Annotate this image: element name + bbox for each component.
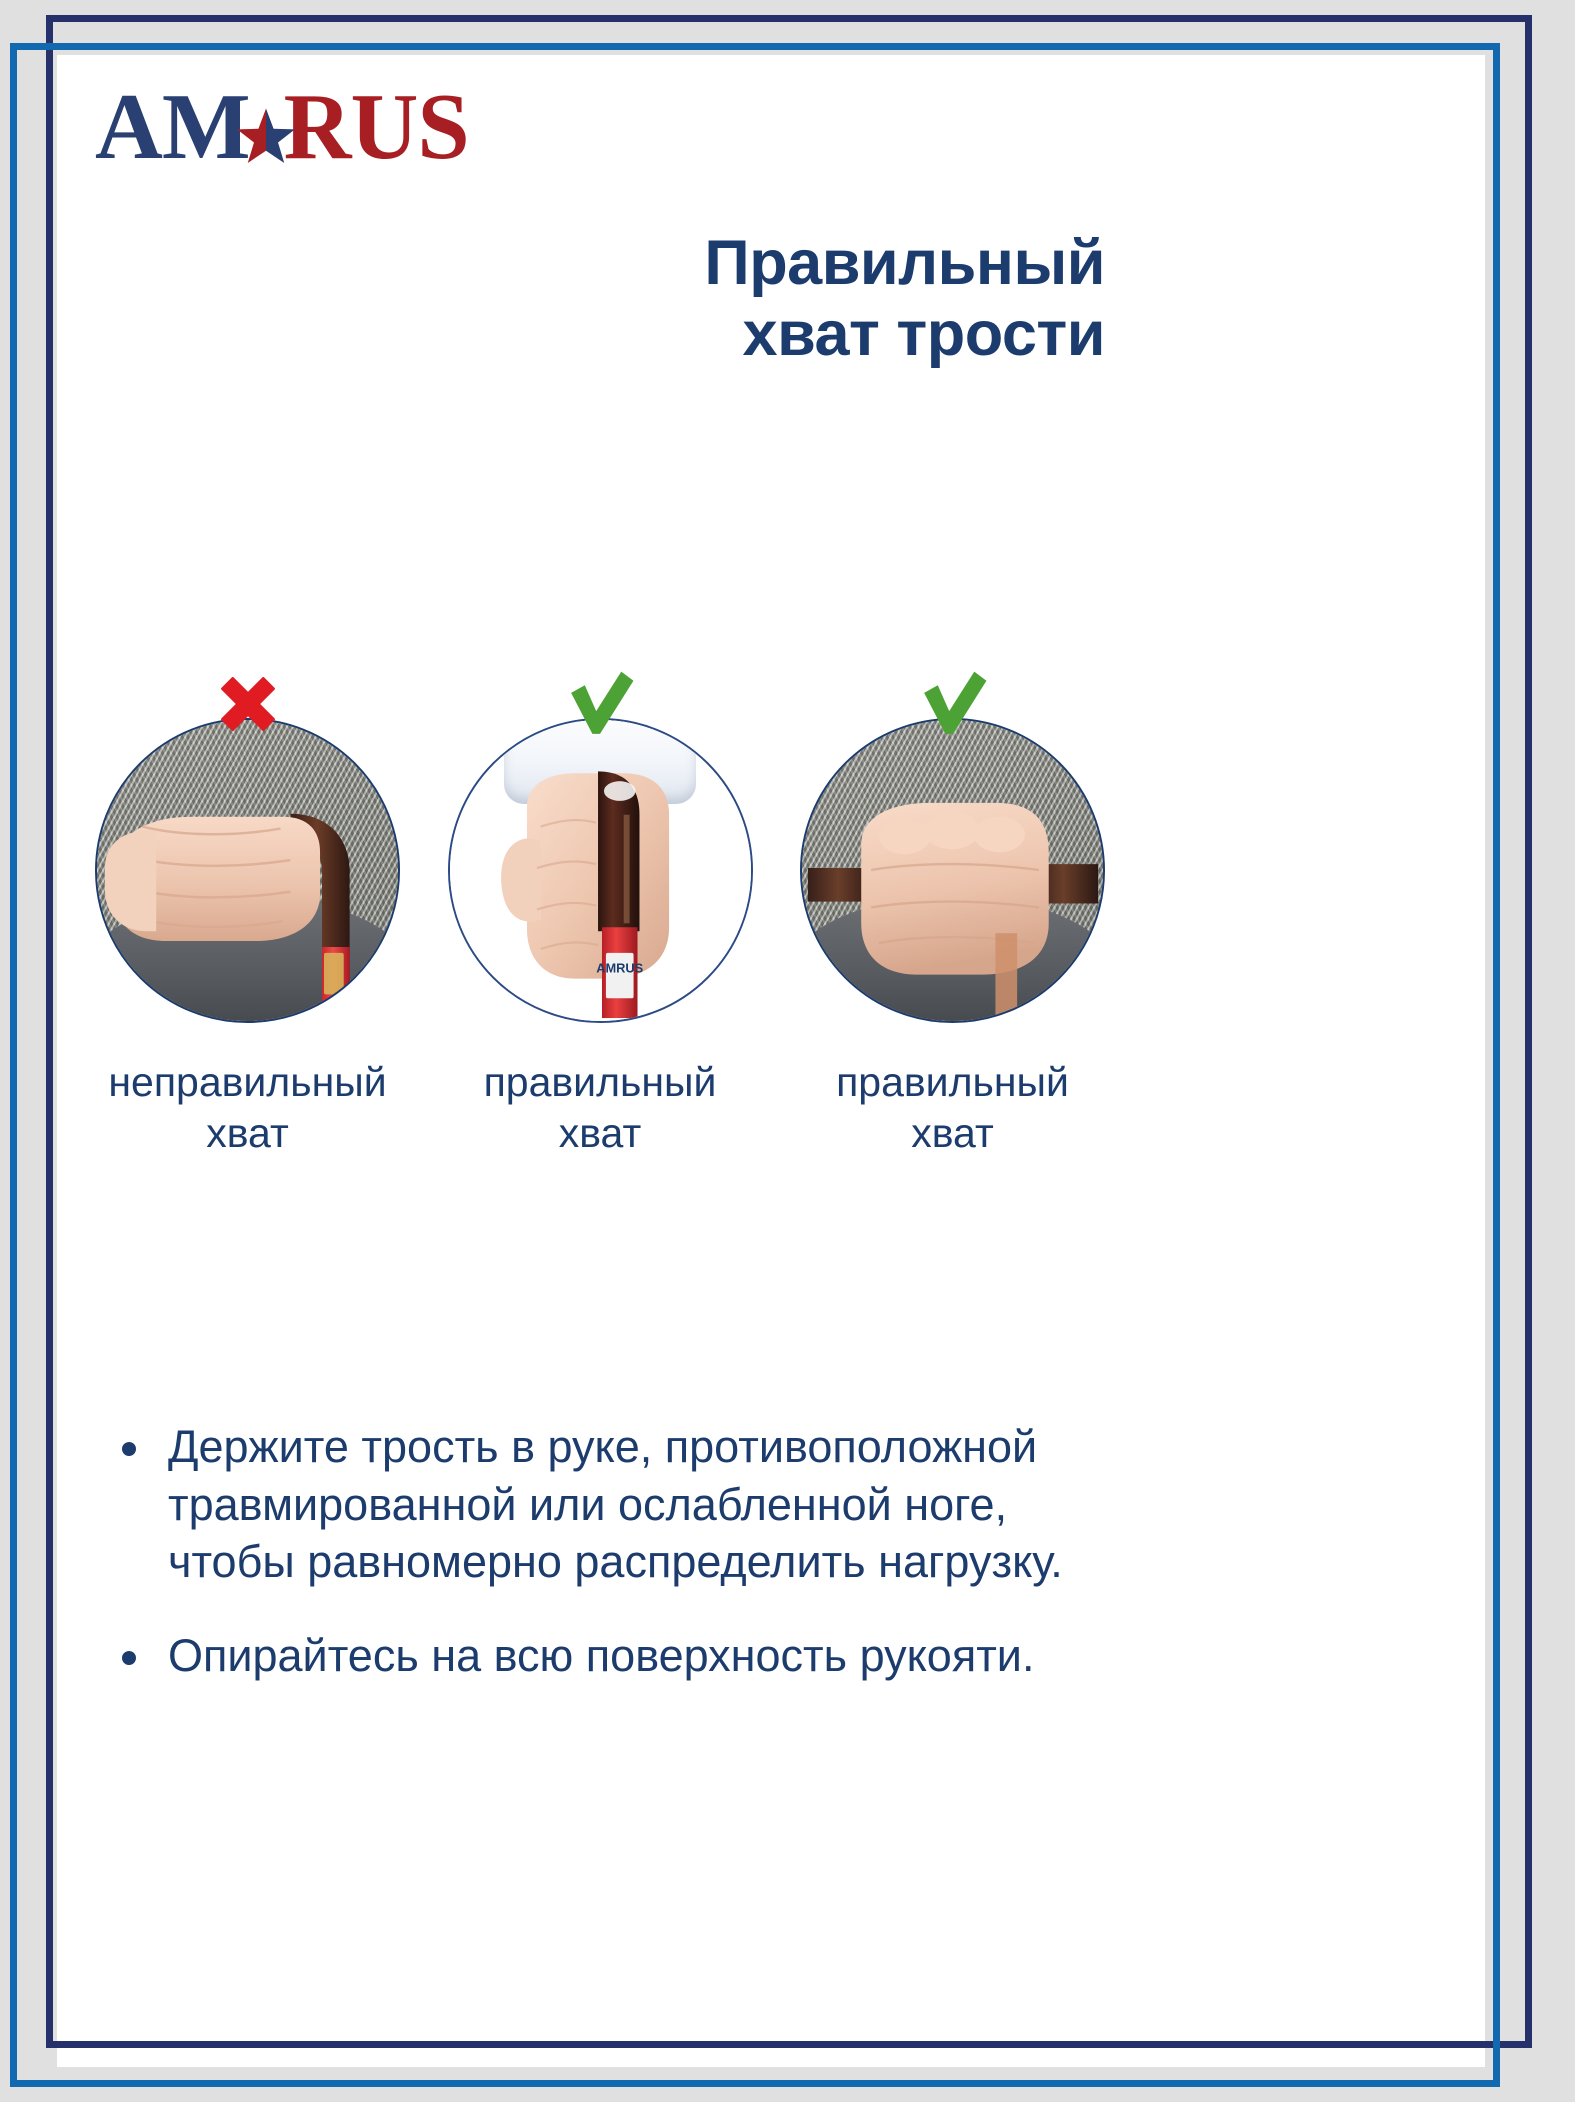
logo-text-rus: RUS: [284, 80, 469, 174]
grip-example-correct-1: AMRUS правильный хват: [448, 660, 753, 1160]
caption-line-1: правильный: [800, 1057, 1105, 1108]
grip-photo-incorrect: [95, 718, 400, 1023]
caption-line-2: хват: [95, 1108, 400, 1159]
logo-text-am: AM: [95, 80, 250, 174]
check-mark-icon: [448, 660, 753, 740]
grip-caption-correct-2: правильный хват: [800, 1057, 1105, 1160]
grip-example-correct-2: правильный хват: [800, 660, 1105, 1160]
caption-line-2: хват: [448, 1108, 753, 1159]
check-mark-icon: [800, 660, 1105, 740]
cross-mark-icon: [95, 660, 400, 740]
hand-illustration: [802, 720, 1103, 1021]
list-item: Опирайтесь на всю поверхность рукояти.: [112, 1627, 1122, 1685]
caption-line-2: хват: [800, 1108, 1105, 1159]
tips-list: Держите трость в руке, противоположной т…: [112, 1418, 1122, 1720]
bullet-dot-icon: [122, 1442, 136, 1456]
grip-example-incorrect: неправильный хват: [95, 660, 400, 1160]
caption-line-1: правильный: [448, 1057, 753, 1108]
list-item-text: Держите трость в руке, противоположной т…: [168, 1418, 1122, 1591]
bullet-dot-icon: [122, 1651, 136, 1665]
page-title-line-1: Правильный: [560, 228, 1105, 299]
grip-examples-row: неправильный хват: [95, 660, 1105, 1160]
list-item: Держите трость в руке, противоположной т…: [112, 1418, 1122, 1591]
poster-root: AM RUS Правильный хват трости: [0, 0, 1575, 2102]
brand-logo: AM RUS: [95, 80, 469, 174]
cane-label: AMRUS: [596, 961, 643, 976]
page-title-line-2: хват трости: [560, 299, 1105, 370]
grip-caption-correct-1: правильный хват: [448, 1057, 753, 1160]
grip-photo-correct-1: AMRUS: [448, 718, 753, 1023]
page-title: Правильный хват трости: [560, 228, 1105, 370]
grip-photo-correct-2: [800, 718, 1105, 1023]
hand-illustration: [97, 720, 398, 1021]
star-icon: [234, 106, 298, 170]
hand-illustration: AMRUS: [450, 720, 751, 1021]
list-item-text: Опирайтесь на всю поверхность рукояти.: [168, 1627, 1122, 1685]
grip-caption-incorrect: неправильный хват: [95, 1057, 400, 1160]
caption-line-1: неправильный: [95, 1057, 400, 1108]
